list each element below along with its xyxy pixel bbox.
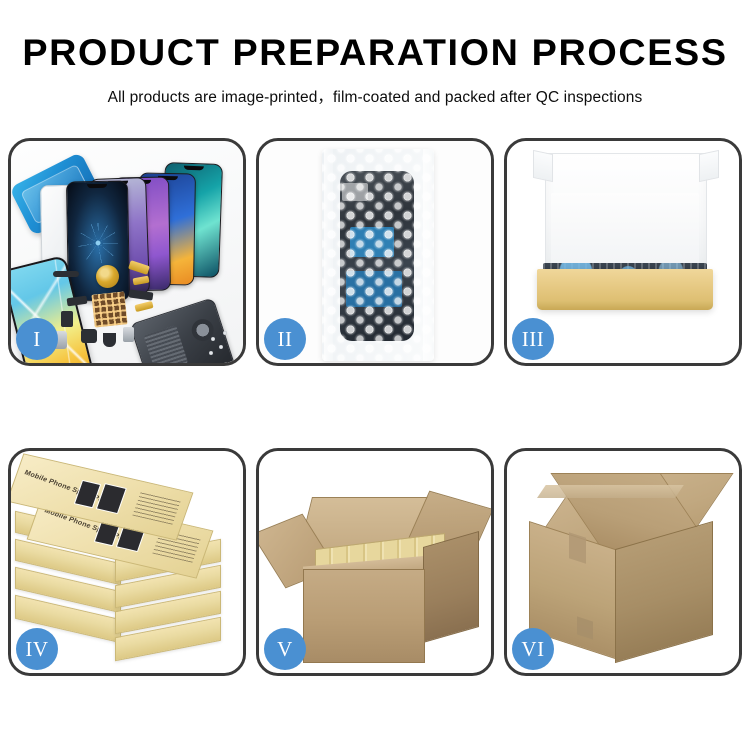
speaker-mesh-part: [53, 271, 79, 277]
step-badge-1: I: [16, 318, 58, 360]
step-badge-4: IV: [16, 628, 58, 670]
screw-icon: [211, 337, 215, 341]
box-artwork-screen: [96, 483, 127, 514]
step-badge-5: V: [264, 628, 306, 670]
mailer-box-front-edge: [537, 301, 713, 310]
chip-grid-part: [91, 291, 127, 327]
vibrator-part: [123, 327, 134, 342]
screw-icon: [223, 331, 227, 335]
button-flex-part: [61, 311, 73, 327]
camera-module-part: [81, 329, 97, 343]
step-panel-product-parts: I: [8, 138, 246, 366]
copper-coil-part: [96, 265, 119, 288]
carton-front-panel: [303, 569, 425, 663]
step-panel-boxed-stack: Mobile Phone Spare Parts Mobile Phone Sp…: [8, 448, 246, 676]
tape-tab-upper: [569, 532, 586, 564]
page-header: PRODUCT PREPARATION PROCESS All products…: [0, 0, 750, 107]
page-subtitle: All products are image-printed，film-coat…: [0, 85, 750, 107]
bag-seam-left: [324, 149, 333, 361]
phone-notch-icon: [87, 184, 107, 188]
page-title: PRODUCT PREPARATION PROCESS: [0, 34, 750, 71]
bubble-highlight-overlay: [322, 149, 434, 361]
lid-flap-left: [533, 150, 553, 182]
bubble-wrap-bag: [322, 149, 434, 361]
carton-side-panel: [423, 531, 479, 643]
bag-seam-right: [423, 149, 432, 361]
step-badge-3: III: [512, 318, 554, 360]
packing-tape-strip: [537, 485, 684, 498]
step-panel-sealed-carton: VI: [504, 448, 742, 676]
process-step-grid: I II: [8, 138, 742, 676]
screw-icon: [219, 345, 223, 349]
speaker-part: [103, 333, 116, 347]
lid-flap-right: [699, 150, 719, 182]
wallpaper-burst-icon: [78, 223, 119, 264]
step-panel-bubble-wrap: II: [256, 138, 494, 366]
step-badge-2: II: [264, 318, 306, 360]
phone-notch-icon: [184, 166, 204, 171]
step-panel-carton-filling: V: [256, 448, 494, 676]
box-spec-text-lines: [132, 491, 180, 524]
step-panel-inner-box: III: [504, 138, 742, 366]
step-badge-6: VI: [512, 628, 554, 670]
screw-icon: [209, 351, 213, 355]
